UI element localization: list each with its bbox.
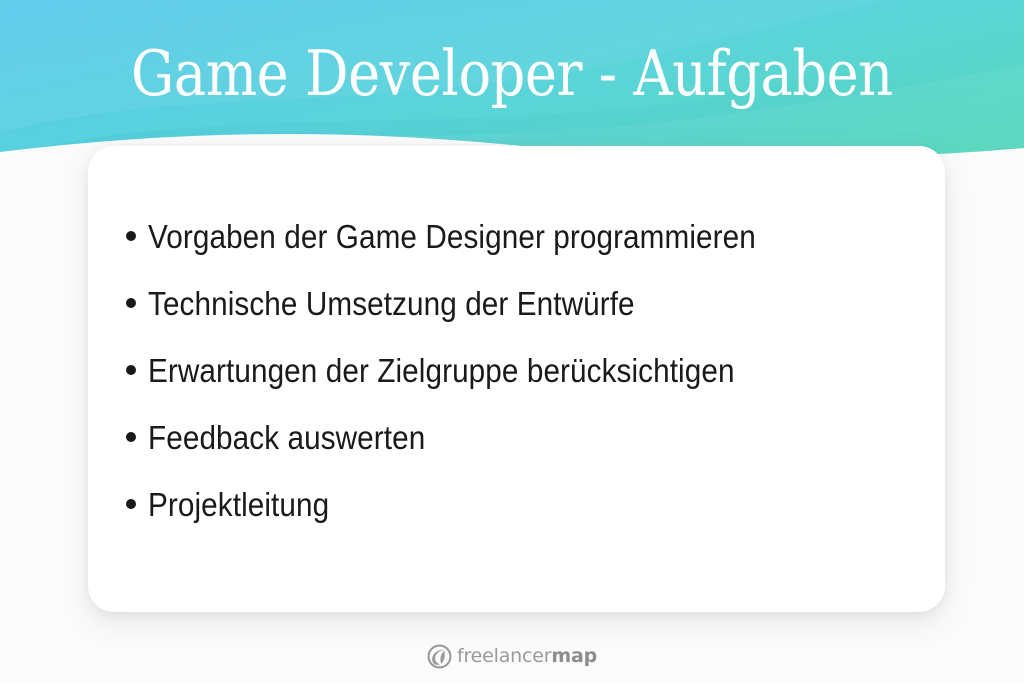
task-list: Vorgaben der Game Designer programmieren… — [88, 218, 945, 553]
page-title: Game Developer - Aufgaben — [97, 41, 928, 107]
list-item: Erwartungen der Zielgruppe berücksichtig… — [88, 352, 945, 419]
list-item-label: Projektleitung — [148, 486, 329, 524]
brand-logo-text-bold: map — [551, 645, 597, 667]
list-item-label: Feedback auswerten — [148, 419, 425, 457]
page-title-container: Game Developer - Aufgaben — [0, 0, 1024, 148]
bullet-icon — [126, 365, 136, 375]
list-item-label: Vorgaben der Game Designer programmieren — [148, 218, 756, 256]
bullet-icon — [126, 298, 136, 308]
list-item: Feedback auswerten — [88, 419, 945, 486]
list-item: Technische Umsetzung der Entwürfe — [88, 285, 945, 352]
brand-logo-text-light: freelancer — [457, 645, 551, 667]
list-item-label: Technische Umsetzung der Entwürfe — [148, 285, 635, 323]
bullet-icon — [126, 432, 136, 442]
footer: freelancermap — [0, 636, 1024, 676]
bullet-icon — [126, 231, 136, 241]
list-item-label: Erwartungen der Zielgruppe berücksichtig… — [148, 352, 735, 390]
brand-logo: freelancermap — [427, 644, 597, 669]
freelancermap-circle-swirl-icon — [427, 644, 452, 669]
content-card: Vorgaben der Game Designer programmieren… — [88, 146, 945, 612]
slide-canvas: Game Developer - Aufgaben Vorgaben der G… — [0, 0, 1024, 683]
brand-logo-text: freelancermap — [457, 647, 597, 666]
list-item: Vorgaben der Game Designer programmieren — [88, 218, 945, 285]
list-item: Projektleitung — [88, 486, 945, 553]
bullet-icon — [126, 499, 136, 509]
